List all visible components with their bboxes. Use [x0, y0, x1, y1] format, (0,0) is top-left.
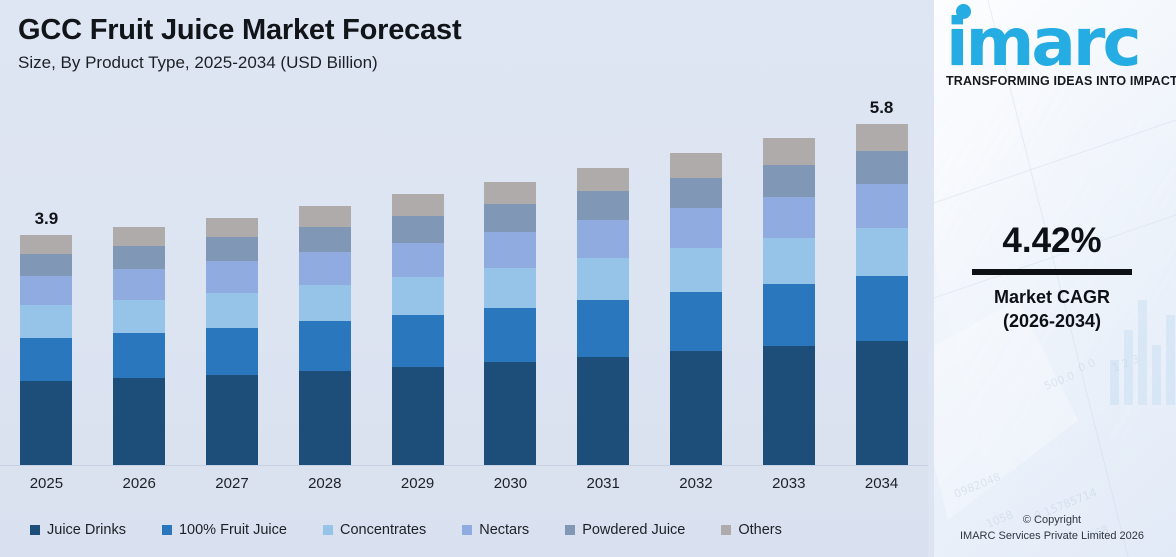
bar-segment[interactable] — [206, 293, 258, 328]
bar-segment[interactable] — [856, 184, 908, 228]
page-title: GCC Fruit Juice Market Forecast — [18, 14, 461, 47]
bar-segment[interactable] — [299, 252, 351, 285]
legend-swatch-icon — [721, 525, 731, 535]
bar-segment[interactable] — [763, 284, 815, 346]
legend-item[interactable]: Concentrates — [323, 522, 426, 538]
x-axis-tick-label: 2029 — [371, 470, 464, 498]
stacked-bar[interactable] — [763, 138, 815, 465]
copyright-notice: © Copyright IMARC Services Private Limit… — [928, 513, 1176, 545]
x-axis-line — [0, 465, 928, 466]
bar-segment[interactable] — [20, 276, 72, 305]
bar-segment[interactable] — [392, 194, 444, 216]
legend-label: Powdered Juice — [582, 522, 685, 538]
plot-area: 3.95.8 — [0, 100, 928, 465]
bar-slot — [371, 100, 464, 465]
bar-segment[interactable] — [392, 315, 444, 366]
x-axis-tick-label: 2028 — [278, 470, 371, 498]
bar-segment[interactable] — [484, 308, 536, 362]
legend-swatch-icon — [462, 525, 472, 535]
bar-segment[interactable] — [670, 208, 722, 248]
bar-slot — [278, 100, 371, 465]
bar-segment[interactable] — [577, 220, 629, 258]
bar-segment[interactable] — [20, 254, 72, 276]
legend-item[interactable]: 100% Fruit Juice — [162, 522, 287, 538]
bar-segment[interactable] — [577, 168, 629, 192]
x-axis-tick-label: 2027 — [186, 470, 279, 498]
imarc-logo: imarc TRANSFORMING IDEAS INTO IMPACT — [946, 16, 1161, 88]
cagr-label: Market CAGR — [928, 285, 1176, 309]
bar-segment[interactable] — [763, 346, 815, 465]
x-axis-tick-label: 2030 — [464, 470, 557, 498]
brand-panel: 500.0 0.0 1 2 3 0982048 1058 0.15785714 … — [928, 0, 1176, 557]
bar-segment[interactable] — [206, 237, 258, 261]
stacked-bar[interactable]: 3.9 — [20, 235, 72, 465]
bar-segment[interactable] — [299, 371, 351, 465]
stacked-bar[interactable] — [484, 182, 536, 465]
bar-segment[interactable] — [484, 182, 536, 204]
x-axis-labels: 2025202620272028202920302031203220332034 — [0, 470, 928, 498]
bar-segment[interactable] — [113, 269, 165, 300]
legend-swatch-icon — [323, 525, 333, 535]
bar-segment[interactable] — [113, 246, 165, 269]
bar-segment[interactable] — [206, 328, 258, 375]
bar-segment[interactable] — [392, 367, 444, 465]
legend-item[interactable]: Powdered Juice — [565, 522, 685, 538]
bar-segment[interactable] — [484, 268, 536, 308]
stacked-bar[interactable] — [670, 153, 722, 465]
x-axis-tick-label: 2032 — [650, 470, 743, 498]
bar-segment[interactable] — [670, 351, 722, 465]
bar-group: 3.95.8 — [0, 100, 928, 465]
bar-segment[interactable] — [670, 248, 722, 292]
legend-label: Juice Drinks — [47, 522, 126, 538]
cagr-period: (2026-2034) — [928, 309, 1176, 333]
bar-segment[interactable] — [484, 362, 536, 465]
bar-segment[interactable] — [856, 341, 908, 465]
bar-segment[interactable] — [577, 300, 629, 357]
legend-label: Nectars — [479, 522, 529, 538]
x-axis-tick-label: 2026 — [93, 470, 186, 498]
bar-segment[interactable] — [299, 206, 351, 227]
legend-item[interactable]: Others — [721, 522, 782, 538]
page-subtitle: Size, By Product Type, 2025-2034 (USD Bi… — [18, 53, 461, 73]
bar-slot — [650, 100, 743, 465]
copyright-line-2: IMARC Services Private Limited 2026 — [928, 529, 1176, 545]
bar-segment[interactable] — [856, 228, 908, 276]
legend-label: 100% Fruit Juice — [179, 522, 287, 538]
bar-segment[interactable] — [763, 238, 815, 284]
stacked-bar[interactable] — [299, 206, 351, 465]
bar-segment[interactable] — [113, 333, 165, 378]
bar-segment[interactable] — [113, 227, 165, 246]
bar-segment[interactable] — [577, 191, 629, 220]
bar-segment[interactable] — [856, 276, 908, 341]
x-axis-tick-label: 2031 — [557, 470, 650, 498]
bar-value-label: 5.8 — [856, 98, 908, 118]
legend-item[interactable]: Nectars — [462, 522, 529, 538]
stacked-bar[interactable] — [113, 227, 165, 465]
legend-item[interactable]: Juice Drinks — [30, 522, 126, 538]
bar-slot — [186, 100, 279, 465]
bar-segment[interactable] — [206, 261, 258, 293]
bar-segment[interactable] — [113, 378, 165, 465]
cagr-divider — [972, 269, 1132, 275]
bar-segment[interactable] — [763, 197, 815, 239]
bar-value-label: 3.9 — [20, 209, 72, 229]
legend-label: Concentrates — [340, 522, 426, 538]
bar-slot: 5.8 — [835, 100, 928, 465]
infographic-root: GCC Fruit Juice Market Forecast Size, By… — [0, 0, 1176, 557]
x-axis-tick-label: 2034 — [835, 470, 928, 498]
x-axis-tick-label: 2033 — [742, 470, 835, 498]
stacked-bar[interactable] — [392, 194, 444, 465]
x-axis-tick-label: 2025 — [0, 470, 93, 498]
bar-segment[interactable] — [484, 204, 536, 232]
bar-segment[interactable] — [206, 375, 258, 465]
bar-slot — [557, 100, 650, 465]
legend-swatch-icon — [565, 525, 575, 535]
bar-slot — [464, 100, 557, 465]
bar-slot: 3.9 — [0, 100, 93, 465]
bar-segment[interactable] — [20, 381, 72, 465]
bar-segment[interactable] — [763, 138, 815, 164]
bar-segment[interactable] — [670, 153, 722, 178]
bar-segment[interactable] — [856, 124, 908, 152]
bar-segment[interactable] — [20, 235, 72, 253]
bar-segment[interactable] — [206, 218, 258, 237]
copyright-line-1: © Copyright — [928, 513, 1176, 529]
bar-segment[interactable] — [20, 338, 72, 382]
bar-segment[interactable] — [113, 300, 165, 334]
chart-panel: GCC Fruit Juice Market Forecast Size, By… — [0, 0, 928, 557]
stacked-bar[interactable] — [577, 168, 629, 465]
legend-label: Others — [738, 522, 782, 538]
logo-dot-icon — [956, 4, 971, 19]
bar-segment[interactable] — [299, 227, 351, 252]
bar-segment[interactable] — [299, 285, 351, 322]
cagr-block: 4.42% Market CAGR (2026-2034) — [928, 222, 1176, 333]
bar-segment[interactable] — [392, 277, 444, 315]
bar-segment[interactable] — [670, 292, 722, 351]
bar-segment[interactable] — [577, 258, 629, 300]
bar-segment[interactable] — [856, 151, 908, 184]
logo-text: imarc — [946, 4, 1139, 81]
stacked-bar[interactable]: 5.8 — [856, 124, 908, 465]
bar-slot — [93, 100, 186, 465]
bar-segment[interactable] — [20, 305, 72, 337]
legend-swatch-icon — [162, 525, 172, 535]
bar-segment[interactable] — [392, 216, 444, 242]
bar-segment[interactable] — [670, 178, 722, 208]
chart-header: GCC Fruit Juice Market Forecast Size, By… — [18, 14, 461, 74]
bar-segment[interactable] — [577, 357, 629, 465]
logo-wordmark: imarc — [946, 16, 1161, 70]
stacked-bar[interactable] — [206, 218, 258, 465]
bar-segment[interactable] — [299, 321, 351, 370]
bar-segment[interactable] — [484, 232, 536, 269]
bar-segment[interactable] — [392, 243, 444, 278]
cagr-value: 4.42% — [928, 222, 1176, 261]
legend-swatch-icon — [30, 525, 40, 535]
chart-legend: Juice Drinks100% Fruit JuiceConcentrates… — [0, 516, 928, 544]
bar-segment[interactable] — [763, 165, 815, 197]
bar-slot — [742, 100, 835, 465]
